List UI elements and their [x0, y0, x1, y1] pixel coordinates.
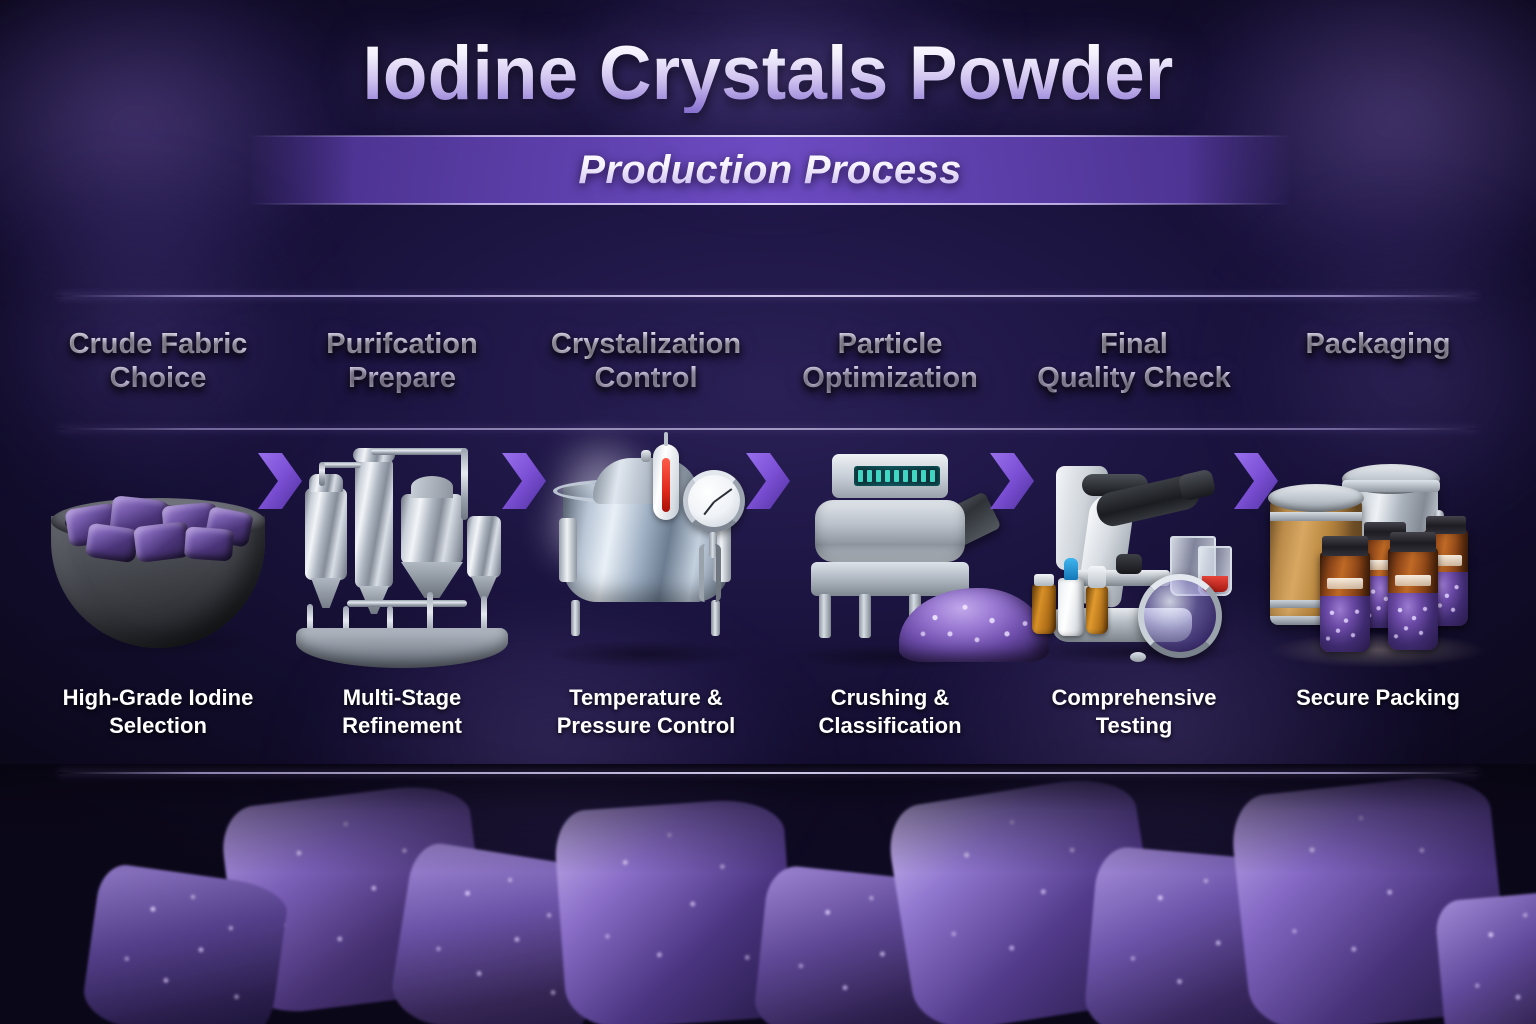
step-caption-line: High-Grade Iodine — [63, 684, 254, 712]
process-step-4[interactable]: Particle Optimization — [768, 300, 1012, 770]
step-caption-line: Selection — [63, 712, 254, 740]
step-caption-line: Temperature & — [557, 684, 736, 712]
step-caption-5: Comprehensive Testing — [1045, 684, 1222, 740]
step-caption-4: Crushing & Classification — [812, 684, 967, 740]
step-title-line: Prepare — [326, 362, 477, 396]
step-title-line: Particle — [802, 328, 978, 362]
step-caption-line: Pressure Control — [557, 712, 736, 740]
divider-bottom — [58, 772, 1478, 774]
step-title-line: Choice — [69, 362, 248, 396]
chevron-right-icon — [988, 450, 1036, 512]
mill-classifier-icon — [768, 428, 1012, 684]
step-caption-line: Testing — [1051, 712, 1216, 740]
drums-and-amber-bottles-icon — [1256, 428, 1500, 684]
page-title: Iodine Crystals Powder — [31, 34, 1506, 113]
step-title-line: Quality Check — [1037, 362, 1230, 396]
microscope-lab-icon — [1012, 428, 1256, 684]
process-step-1[interactable]: Crude Fabric Choice — [36, 300, 280, 770]
crystallizer-vessel-icon — [524, 428, 768, 684]
step-caption-line: Crushing & — [818, 684, 961, 712]
step-caption-1: High-Grade Iodine Selection — [57, 684, 260, 740]
step-caption-6: Secure Packing — [1290, 684, 1466, 712]
step-title-line: Packaging — [1305, 328, 1450, 362]
step-caption-line: Secure Packing — [1296, 684, 1460, 712]
step-title-line: Optimization — [802, 362, 978, 396]
step-caption-3: Temperature & Pressure Control — [551, 684, 742, 740]
subtitle-banner: Production Process — [250, 136, 1290, 204]
step-title-5: Final Quality Check — [1037, 300, 1230, 428]
chevron-right-icon — [1232, 450, 1280, 512]
step-title-6: Packaging — [1305, 300, 1450, 428]
step-caption-line: Multi-Stage — [342, 684, 462, 712]
process-step-6[interactable]: Packaging — [1256, 300, 1500, 770]
chevron-right-icon — [256, 450, 304, 512]
step-title-line: Final — [1037, 328, 1230, 362]
step-caption-line: Refinement — [342, 712, 462, 740]
divider-top — [58, 295, 1478, 297]
purification-plant-icon — [280, 428, 524, 684]
step-title-1: Crude Fabric Choice — [69, 300, 248, 428]
step-title-line: Purifcation — [326, 328, 477, 362]
step-title-line: Crude Fabric — [69, 328, 248, 362]
step-caption-line: Comprehensive — [1051, 684, 1216, 712]
crystal-macro-photo — [0, 764, 1536, 1024]
process-steps: Crude Fabric Choice — [36, 300, 1500, 770]
process-step-2[interactable]: Purifcation Prepare — [280, 300, 524, 770]
chevron-right-icon — [500, 450, 548, 512]
header: Iodine Crystals Powder — [0, 34, 1536, 113]
step-caption-line: Classification — [818, 712, 961, 740]
step-title-line: Control — [551, 362, 741, 396]
step-title-line: Crystalization — [551, 328, 741, 362]
step-caption-2: Multi-Stage Refinement — [336, 684, 468, 740]
bowl-of-iodine-crystals-icon — [36, 428, 280, 684]
step-title-4: Particle Optimization — [802, 300, 978, 428]
step-title-2: Purifcation Prepare — [326, 300, 477, 428]
process-step-3[interactable]: Crystalization Control — [524, 300, 768, 770]
process-step-5[interactable]: Final Quality Check — [1012, 300, 1256, 770]
page-subtitle: Production Process — [578, 148, 961, 193]
step-title-3: Crystalization Control — [551, 300, 741, 428]
infographic-canvas: Iodine Crystals Powder Production Proces… — [0, 0, 1536, 1024]
chevron-right-icon — [744, 450, 792, 512]
